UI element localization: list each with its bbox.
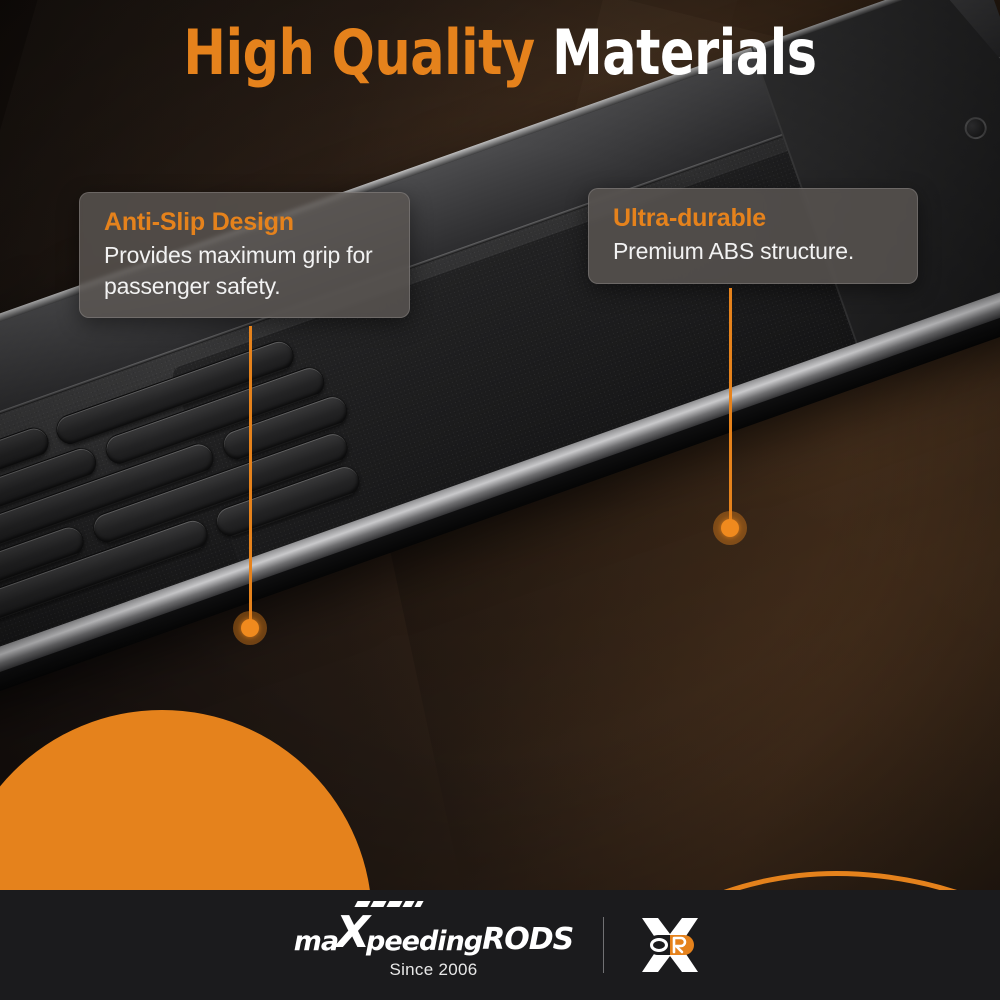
callout-heading: Anti-Slip Design [104,207,389,238]
wordmark-part1: ma [294,928,338,955]
brand-logo: ma X peeding RODS Since 2006 [294,911,574,980]
footer-divider [603,917,604,973]
title-rest: Materials [552,16,816,89]
brand-wordmark: ma X peeding RODS [294,911,574,955]
title-highlight: High Quality [183,16,534,89]
mounting-screw-icon [962,114,990,142]
running-board [0,0,1000,760]
footer-bar: ma X peeding RODS Since 2006 [0,890,1000,1000]
page-title: High Quality Materials [90,22,910,84]
callout-connector-left [249,326,252,626]
callout-ultra-durable: Ultra-durable Premium ABS structure. [588,188,918,284]
wordmark-x: X [336,911,368,955]
callout-connector-right [729,288,732,528]
callout-marker-ultra-durable [713,511,747,545]
callout-marker-anti-slip [233,611,267,645]
callout-heading: Ultra-durable [613,203,897,234]
callout-body: Provides maximum grip for passenger safe… [104,240,389,301]
callout-body: Premium ABS structure. [613,236,897,267]
speed-streaks-icon [356,901,422,907]
wordmark-part3: peeding [366,928,482,955]
callout-anti-slip: Anti-Slip Design Provides maximum grip f… [79,192,410,318]
wordmark-part4: RODS [482,925,573,955]
brand-tagline: Since 2006 [389,960,477,980]
or-badge-icon [634,914,706,976]
promo-image: High Quality Materials Anti-Slip Design … [0,0,1000,1000]
